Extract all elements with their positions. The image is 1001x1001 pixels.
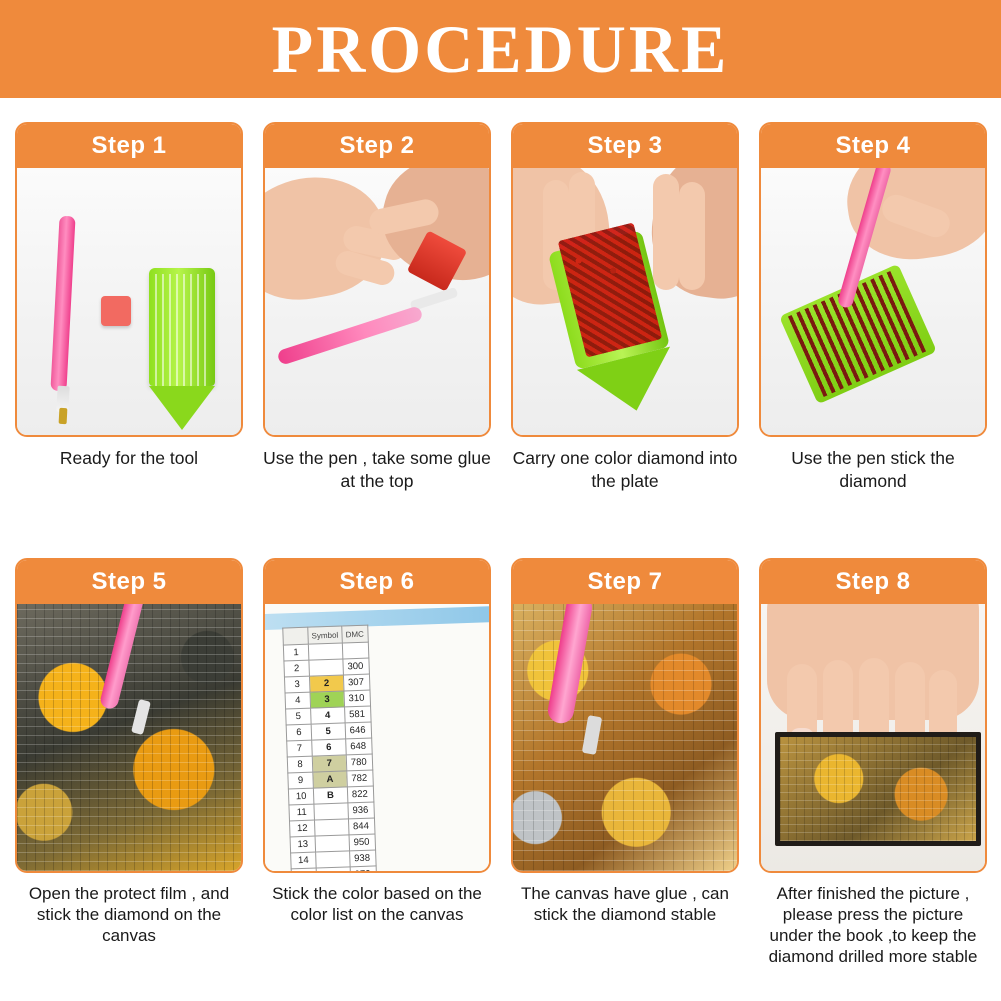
finger-icon xyxy=(679,182,705,290)
cell-symbol xyxy=(309,659,343,676)
cell-index: 7 xyxy=(287,740,313,757)
step-image-7 xyxy=(513,604,737,871)
cell-symbol: 2 xyxy=(309,675,343,692)
step-badge-8: Step 8 xyxy=(761,560,985,604)
cell-index: 6 xyxy=(286,724,312,741)
cell-index: 1 xyxy=(283,644,309,661)
cell-dmc: 972 xyxy=(350,866,377,871)
step-thumb-5: Step 5 xyxy=(15,558,243,873)
cell-dmc xyxy=(342,642,369,659)
cell-symbol: A xyxy=(313,771,347,788)
step-caption-3: Carry one color diamond into the plate xyxy=(511,447,739,493)
step-thumb-3: Step 3 xyxy=(511,122,739,437)
procedure-poster: PROCEDURE Step 1 xyxy=(0,0,1001,1001)
framed-picture-icon xyxy=(775,732,981,846)
step-thumb-6: Step 6 Symbol DMC xyxy=(263,558,491,873)
step-image-3 xyxy=(513,168,737,435)
cell-index: 14 xyxy=(291,852,317,869)
step-caption-5: Open the protect film , and stick the di… xyxy=(15,883,243,946)
cell-symbol: 3 xyxy=(310,691,344,708)
finger-icon xyxy=(653,174,679,290)
cell-index: 15 xyxy=(291,868,317,871)
step-thumb-4: Step 4 xyxy=(759,122,987,437)
cell-dmc: 936 xyxy=(348,802,375,819)
cell-dmc: 646 xyxy=(345,722,372,739)
cell-symbol: B xyxy=(313,787,347,804)
cell-dmc: 950 xyxy=(349,834,376,851)
step-card-1: Step 1 Ready for the tool xyxy=(15,122,243,470)
step-badge-3: Step 3 xyxy=(513,124,737,168)
cell-symbol: 7 xyxy=(312,755,346,772)
step-card-7: Step 7 The canvas have glue , can stick … xyxy=(511,558,739,925)
cell-dmc: 307 xyxy=(343,674,370,691)
step-badge-1: Step 1 xyxy=(17,124,241,168)
cell-index: 13 xyxy=(290,836,316,853)
step-card-4: Step 4 Use the pen stick the diamond xyxy=(759,122,987,493)
step-thumb-2: Step 2 xyxy=(263,122,491,437)
cell-symbol: 5 xyxy=(311,723,345,740)
page-title: PROCEDURE xyxy=(272,15,730,83)
cell-dmc: 648 xyxy=(345,738,372,755)
color-list-table: Symbol DMC 1 2300 32307 43310 54581 656 xyxy=(282,625,377,871)
pen-metal-tip-icon xyxy=(59,408,68,424)
col-symbol: Symbol xyxy=(308,626,342,644)
steps-grid: Step 1 Ready for the tool xyxy=(0,98,1001,1001)
col-dmc: DMC xyxy=(341,625,368,643)
step-caption-7: The canvas have glue , can stick the dia… xyxy=(511,883,739,925)
steps-row-2: Step 5 Open the protect film , and stick… xyxy=(0,558,1001,998)
cell-symbol: 4 xyxy=(311,707,345,724)
step-image-5 xyxy=(17,604,241,871)
cell-symbol xyxy=(316,867,350,871)
step-card-6: Step 6 Symbol DMC xyxy=(263,558,491,925)
cell-symbol xyxy=(314,819,348,836)
step-badge-4: Step 4 xyxy=(761,124,985,168)
step-image-1 xyxy=(17,168,241,435)
cell-index: 4 xyxy=(285,692,311,709)
color-list-body: 1 2300 32307 43310 54581 65646 76648 877… xyxy=(283,642,377,871)
step-image-6: Symbol DMC 1 2300 32307 43310 54581 656 xyxy=(265,604,489,871)
cell-dmc: 938 xyxy=(349,850,376,867)
step-caption-6: Stick the color based on the color list … xyxy=(263,883,491,925)
cell-dmc: 310 xyxy=(344,690,371,707)
cell-index: 12 xyxy=(289,820,315,837)
cell-index: 8 xyxy=(287,756,313,773)
cell-index: 9 xyxy=(288,772,314,789)
step-image-2 xyxy=(265,168,489,435)
step-card-8: Step 8 xyxy=(759,558,987,967)
cell-index: 10 xyxy=(288,788,314,805)
cell-index: 5 xyxy=(286,708,312,725)
step-caption-8: After finished the picture , please pres… xyxy=(759,883,987,967)
step-thumb-1: Step 1 xyxy=(15,122,243,437)
step-badge-7: Step 7 xyxy=(513,560,737,604)
step-card-2: Step 2 Use the pen , take some glue at t… xyxy=(263,122,491,493)
cell-symbol xyxy=(316,851,350,868)
green-tray-icon xyxy=(149,268,215,386)
step-caption-2: Use the pen , take some glue at the top xyxy=(263,447,491,493)
step-caption-1: Ready for the tool xyxy=(15,447,243,470)
cell-symbol xyxy=(314,803,348,820)
cell-dmc: 581 xyxy=(344,706,371,723)
cell-index: 2 xyxy=(284,660,310,677)
cell-dmc: 822 xyxy=(347,786,374,803)
cell-symbol xyxy=(315,835,349,852)
step-thumb-7: Step 7 xyxy=(511,558,739,873)
cell-dmc: 844 xyxy=(348,818,375,835)
diamond-canvas-icon xyxy=(513,604,737,871)
cell-symbol: 6 xyxy=(312,739,346,756)
cell-index: 3 xyxy=(284,676,310,693)
col-index xyxy=(283,627,309,645)
step-badge-2: Step 2 xyxy=(265,124,489,168)
tray-grooves-icon xyxy=(155,274,209,386)
step-thumb-8: Step 8 xyxy=(759,558,987,873)
cell-dmc: 782 xyxy=(346,770,373,787)
step-badge-5: Step 5 xyxy=(17,560,241,604)
cell-symbol xyxy=(308,643,342,660)
header-banner: PROCEDURE xyxy=(0,0,1001,98)
step-caption-4: Use the pen stick the diamond xyxy=(759,447,987,493)
step-image-4 xyxy=(761,168,985,435)
step-badge-6: Step 6 xyxy=(265,560,489,604)
cell-dmc: 780 xyxy=(346,754,373,771)
glue-square-icon xyxy=(101,296,131,326)
step-card-5: Step 5 Open the protect film , and stick… xyxy=(15,558,243,946)
cell-index: 11 xyxy=(289,804,315,821)
steps-row-1: Step 1 Ready for the tool xyxy=(0,122,1001,562)
step-card-3: Step 3 Carry one color diamond into the … xyxy=(511,122,739,493)
step-image-8 xyxy=(761,604,985,871)
cell-dmc: 300 xyxy=(343,658,370,675)
